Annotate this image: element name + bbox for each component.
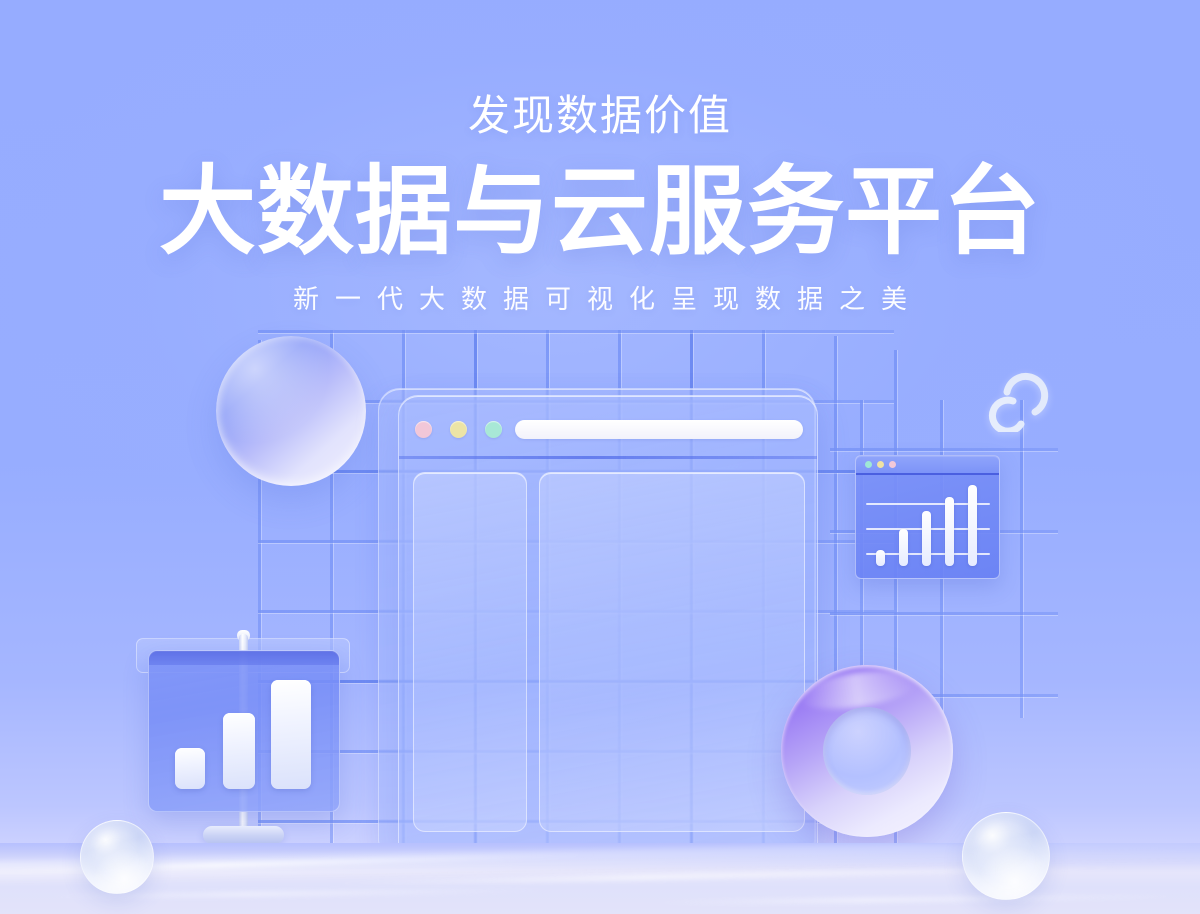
hero-eyebrow: 发现数据价值 bbox=[0, 0, 1200, 137]
address-bar-input[interactable] bbox=[515, 420, 803, 439]
glass-disc bbox=[216, 336, 366, 486]
browser-chrome bbox=[399, 396, 817, 458]
mini-maximize-dot-icon[interactable] bbox=[889, 461, 896, 468]
cloud-icon bbox=[977, 368, 1063, 432]
chart-bar-0 bbox=[175, 748, 205, 790]
chart-bar-2 bbox=[271, 680, 311, 789]
mini-bar-4 bbox=[968, 485, 977, 566]
mini-dashboard-window[interactable] bbox=[855, 455, 1000, 579]
content-pane[interactable] bbox=[539, 472, 805, 832]
mini-minimize-dot-icon[interactable] bbox=[877, 461, 884, 468]
mini-window-titlebar bbox=[856, 456, 999, 475]
chart-card-header bbox=[149, 651, 339, 665]
mini-bar-3 bbox=[945, 497, 954, 566]
hero-tagline: 新一代大数据可视化呈现数据之美 bbox=[0, 260, 1200, 312]
minimize-dot-icon[interactable] bbox=[450, 421, 467, 438]
close-dot-icon[interactable] bbox=[415, 421, 432, 438]
browser-window-mockup[interactable] bbox=[398, 395, 818, 850]
mini-bar-1 bbox=[899, 529, 908, 566]
maximize-dot-icon[interactable] bbox=[485, 421, 502, 438]
stand-base bbox=[203, 826, 284, 844]
hero-text-block: 发现数据价值 大数据与云服务平台 新一代大数据可视化呈现数据之美 bbox=[0, 0, 1200, 312]
mini-bar-2 bbox=[922, 511, 931, 566]
hero-banner: 发现数据价值 大数据与云服务平台 新一代大数据可视化呈现数据之美 bbox=[0, 0, 1200, 914]
glass-sphere-right bbox=[962, 812, 1050, 900]
hero-headline: 大数据与云服务平台 bbox=[0, 137, 1200, 260]
mini-close-dot-icon[interactable] bbox=[865, 461, 872, 468]
glass-sphere-left bbox=[80, 820, 154, 894]
sidebar-pane[interactable] bbox=[413, 472, 527, 832]
chrome-divider bbox=[399, 456, 817, 459]
chart-bar-1 bbox=[223, 713, 255, 789]
mini-bar-0 bbox=[876, 550, 885, 566]
left-bar-chart-card[interactable] bbox=[148, 650, 340, 812]
gradient-torus bbox=[781, 665, 953, 837]
floor-streak bbox=[640, 894, 1200, 906]
